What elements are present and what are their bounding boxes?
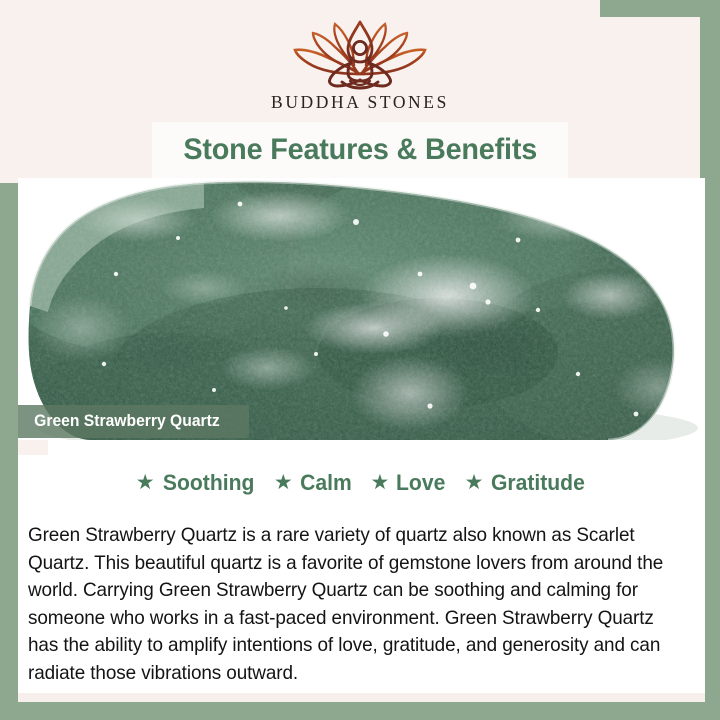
benefit-label: Calm [300,470,352,496]
benefit-item-gratitude: ★ Gratitude [465,470,588,496]
product-info-poster: BUDDHA STONES Stone Features & Benefits [0,0,720,720]
benefits-row: ★ Soothing ★ Calm ★ Love ★ Gratitude [18,466,705,500]
star-icon: ★ [465,472,484,493]
frame-band-bottom [0,702,720,720]
benefit-item-love: ★ Love [370,470,446,496]
star-icon: ★ [370,472,389,493]
lotus-meditating-figure-icon [284,18,436,90]
stone-photo: Green Strawberry Quartz [18,178,705,440]
benefit-label: Love [396,470,445,496]
description-paragraph: Green Strawberry Quartz is a rare variet… [28,522,683,687]
brand-logo: BUDDHA STONES [0,18,720,118]
benefit-label: Gratitude [491,470,585,496]
stone-caption-label: Green Strawberry Quartz [18,412,220,431]
star-icon: ★ [274,472,293,493]
title-banner: Stone Features & Benefits [152,122,568,178]
brand-name: BUDDHA STONES [271,92,449,113]
frame-band-left [0,183,18,720]
cream-top-strip [0,0,600,17]
stone-photo-illustration [18,178,705,440]
page-title: Stone Features & Benefits [183,133,537,167]
star-icon: ★ [136,472,155,493]
stone-caption-bar: Green Strawberry Quartz [18,405,249,438]
benefit-label: Soothing [162,470,254,496]
benefit-item-soothing: ★ Soothing [136,470,256,496]
cream-bottom-strip [18,693,705,702]
benefit-item-calm: ★ Calm [274,470,353,496]
